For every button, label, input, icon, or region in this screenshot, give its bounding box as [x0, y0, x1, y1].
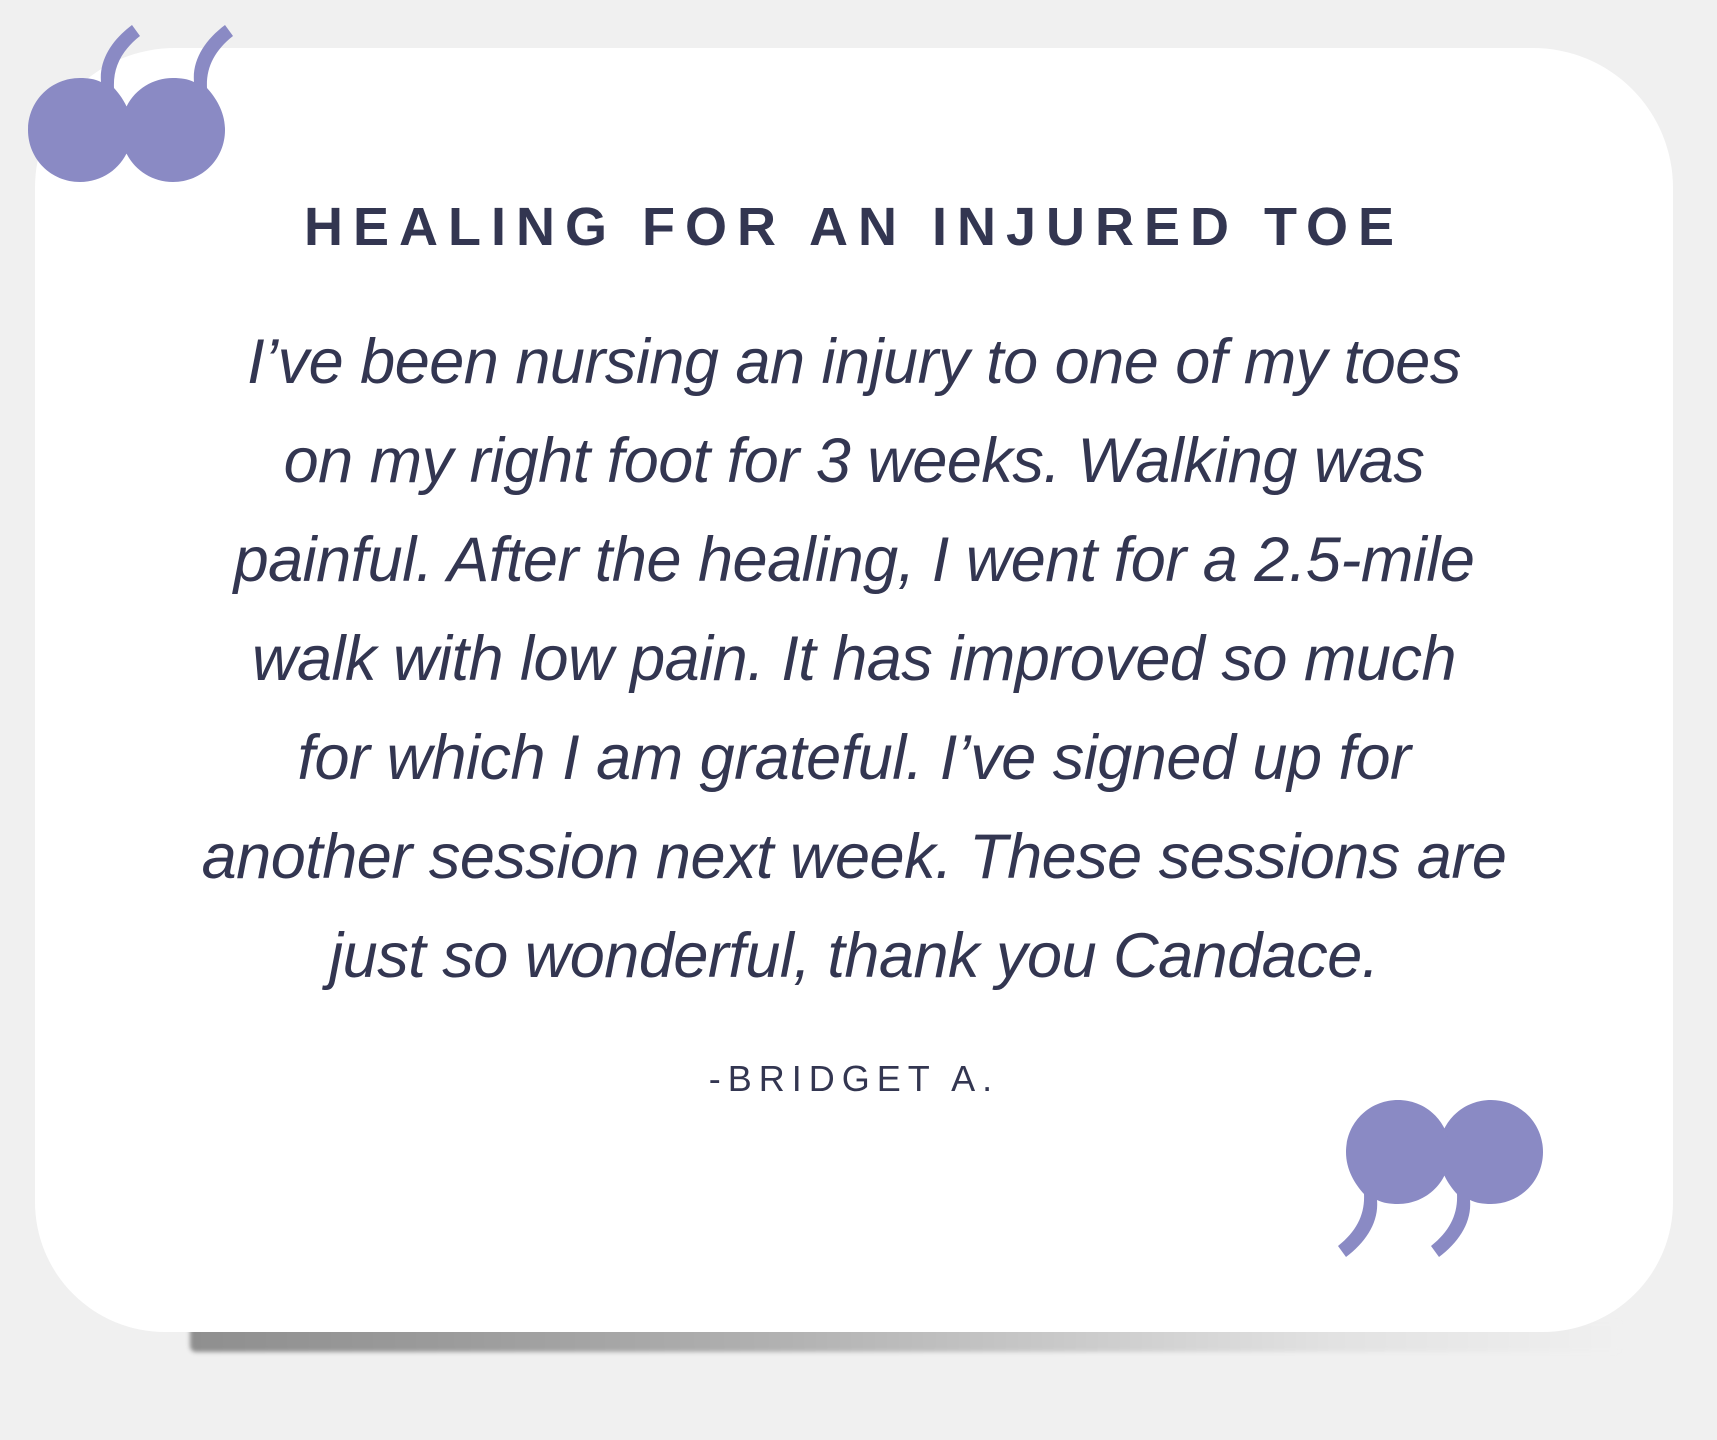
testimonial-stage: HEALING FOR AN INJURED TOE I’ve been nur… — [0, 0, 1717, 1440]
body-line: walk with low pain. It has improved so m… — [144, 610, 1564, 709]
card-content: HEALING FOR AN INJURED TOE I’ve been nur… — [35, 48, 1673, 1332]
body-line: just so wonderful, thank you Candace. — [144, 907, 1564, 1006]
testimonial-attribution: -BRIDGET A. — [90, 1058, 1618, 1100]
body-line: another session next week. These session… — [144, 808, 1564, 907]
body-line: painful. After the healing, I went for a… — [144, 511, 1564, 610]
testimonial-title: HEALING FOR AN INJURED TOE — [90, 198, 1618, 257]
body-line: on my right foot for 3 weeks. Walking wa… — [144, 412, 1564, 511]
body-line: I’ve been nursing an injury to one of my… — [144, 313, 1564, 412]
testimonial-body-text: I’ve been nursing an injury to one of my… — [144, 313, 1564, 1005]
body-line: for which I am grateful. I’ve signed up … — [144, 709, 1564, 808]
